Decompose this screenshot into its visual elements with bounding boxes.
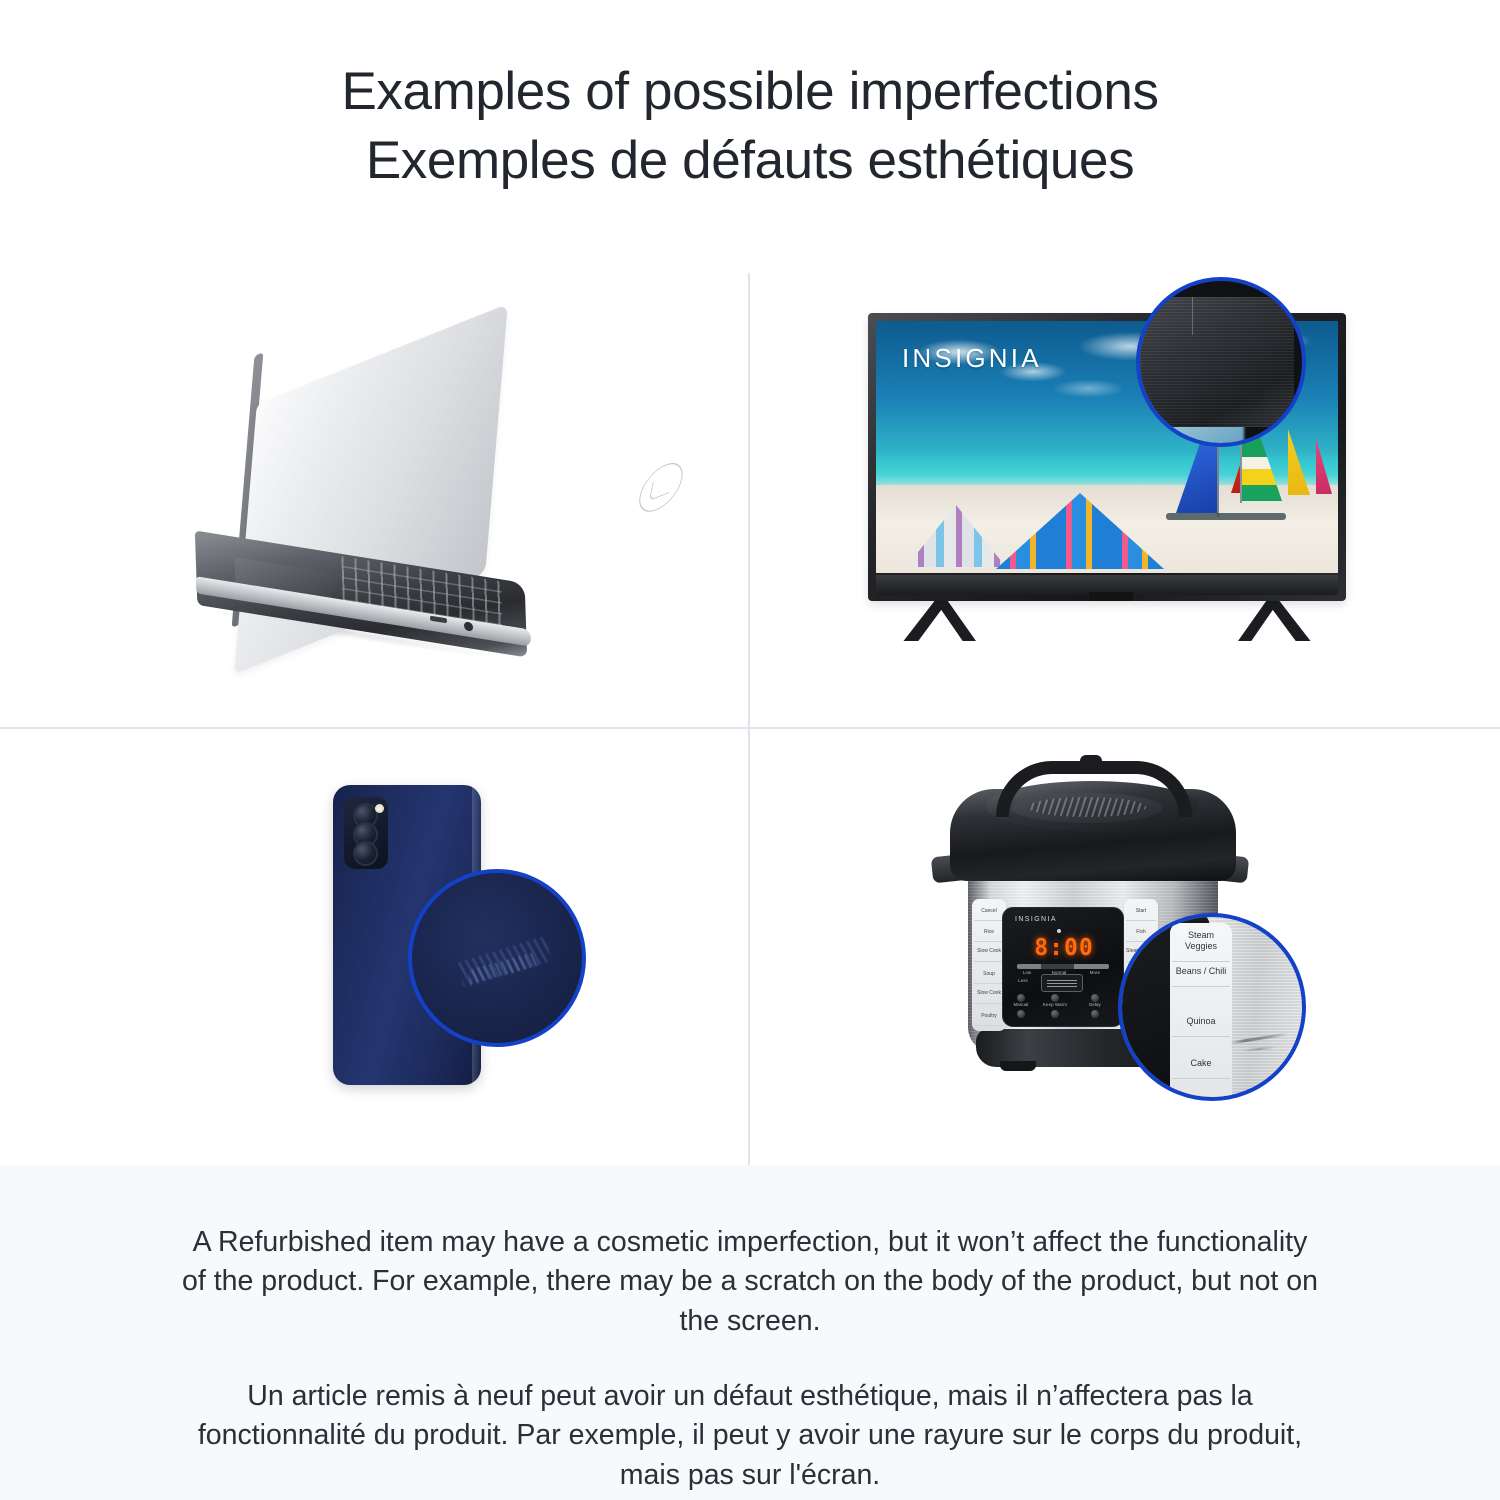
grid-divider-vertical [748,273,750,1165]
cooker-brand-label: INSIGNIA [1015,916,1057,923]
tv-leg-right [1238,599,1312,641]
cooker-button-cancel[interactable]: Cancel [974,902,1004,921]
cooker-panel-label-delay: Delay [1083,1002,1107,1007]
tv-logo-nub [1089,592,1133,601]
cooker-button-column-zoom[interactable]: Steam Veggies Beans / Chili Quinoa Cake [1170,923,1232,1101]
page-header: Examples of possible imperfections Exemp… [0,0,1500,193]
phone-camera-flash-icon [375,804,384,813]
cooker-key-slow-cook-2-icon[interactable] [1091,1010,1099,1018]
cooker-zoom-button-quinoa[interactable]: Quinoa [1172,1009,1230,1037]
cooker-panel-label-manual: Manual [1009,1002,1033,1007]
cooker-mode-readout [1041,974,1083,992]
examples-grid: INSIGNIA [0,273,1500,1165]
tv-corner-bezel-zoom [1136,297,1294,427]
phone-camera-lens-3-icon [353,841,378,866]
grid-cell-laptop [0,273,748,727]
grid-cell-pressure-cooker: Cancel Rice Slow Cook Soup Slow Cook Pou… [750,729,1500,1165]
magnifier-phone-scratches [408,869,586,1047]
page-title-french: Exemples de défauts esthétiques [0,129,1500,194]
magnifier-tv-bezel-scuff [1136,277,1306,447]
cooker-key-manual-icon[interactable] [1017,994,1025,1002]
grid-cell-smartphone [0,729,748,1165]
scratch-mark [1230,1032,1288,1044]
footer-description: A Refurbished item may have a cosmetic i… [0,1165,1500,1500]
cooker-button-soup[interactable]: Soup [974,965,1004,984]
cooker-key-slow-cook-icon[interactable] [1051,1010,1059,1018]
tv-corner-seam [1192,297,1193,335]
cooker-button-slow-cook[interactable]: Slow Cook [974,944,1004,962]
page-title-english: Examples of possible imperfections [0,60,1500,125]
cooker-control-panel[interactable]: INSIGNIA 8:00 Low Normal More Less Manua… [1002,907,1124,1027]
grid-cell-television: INSIGNIA [750,273,1500,727]
cooker-button-poultry[interactable]: Poultry [974,1007,1004,1026]
cooker-foot-left [1000,1061,1036,1071]
footer-text-french: Un article remis à neuf peut avoir un dé… [178,1377,1322,1495]
cooker-label-low: Low [1015,970,1039,975]
tv-screen-boat-hulls [1166,513,1286,520]
cooker-zoom-button-beans-chili[interactable]: Beans / Chili [1172,959,1230,987]
magnifier-cooker-scratch: Delay Slow Cook Steam Veggies Beans / Ch… [1118,913,1306,1101]
cooker-zoom-button-cake[interactable]: Cake [1172,1051,1230,1079]
cooker-button-rice[interactable]: Rice [974,923,1004,942]
cooker-label-more: More [1083,970,1107,975]
cooker-carry-handle [996,761,1192,817]
grid-divider-horizontal [0,727,1500,729]
cooker-status-dot-icon [1057,929,1061,933]
cooker-key-keep-warm-icon[interactable] [1051,994,1059,1002]
laptop-logo-badge-icon [635,456,687,518]
tv-illustration: INSIGNIA [750,273,1500,727]
laptop-illustration [0,273,748,727]
cooker-key-saute-icon[interactable] [1017,1010,1025,1018]
phone-illustration [0,729,748,1165]
phone-camera-module-icon [344,797,388,869]
scratch-mark-secondary [1242,1046,1276,1052]
cooker-label-less: Less [1011,978,1035,983]
cooker-display-value: 8:00 [1031,936,1097,960]
cooker-panel-label-keep-warm: Keep Warm [1043,1002,1067,1007]
cooker-zoom-button-steam-veggies[interactable]: Steam Veggies [1172,923,1230,962]
cooker-button-column-left[interactable]: Cancel Rice Slow Cook Soup Slow Cook Pou… [972,899,1006,1031]
tv-screen-brand-logo: INSIGNIA [902,343,1042,374]
cooker-button-slow-cook-2[interactable]: Slow Cook [974,986,1004,1004]
cooker-pressure-level-bar [1017,964,1109,969]
tv-leg-left [902,599,976,641]
footer-text-english: A Refurbished item may have a cosmetic i… [178,1223,1322,1341]
cooker-key-delay-icon[interactable] [1091,994,1099,1002]
